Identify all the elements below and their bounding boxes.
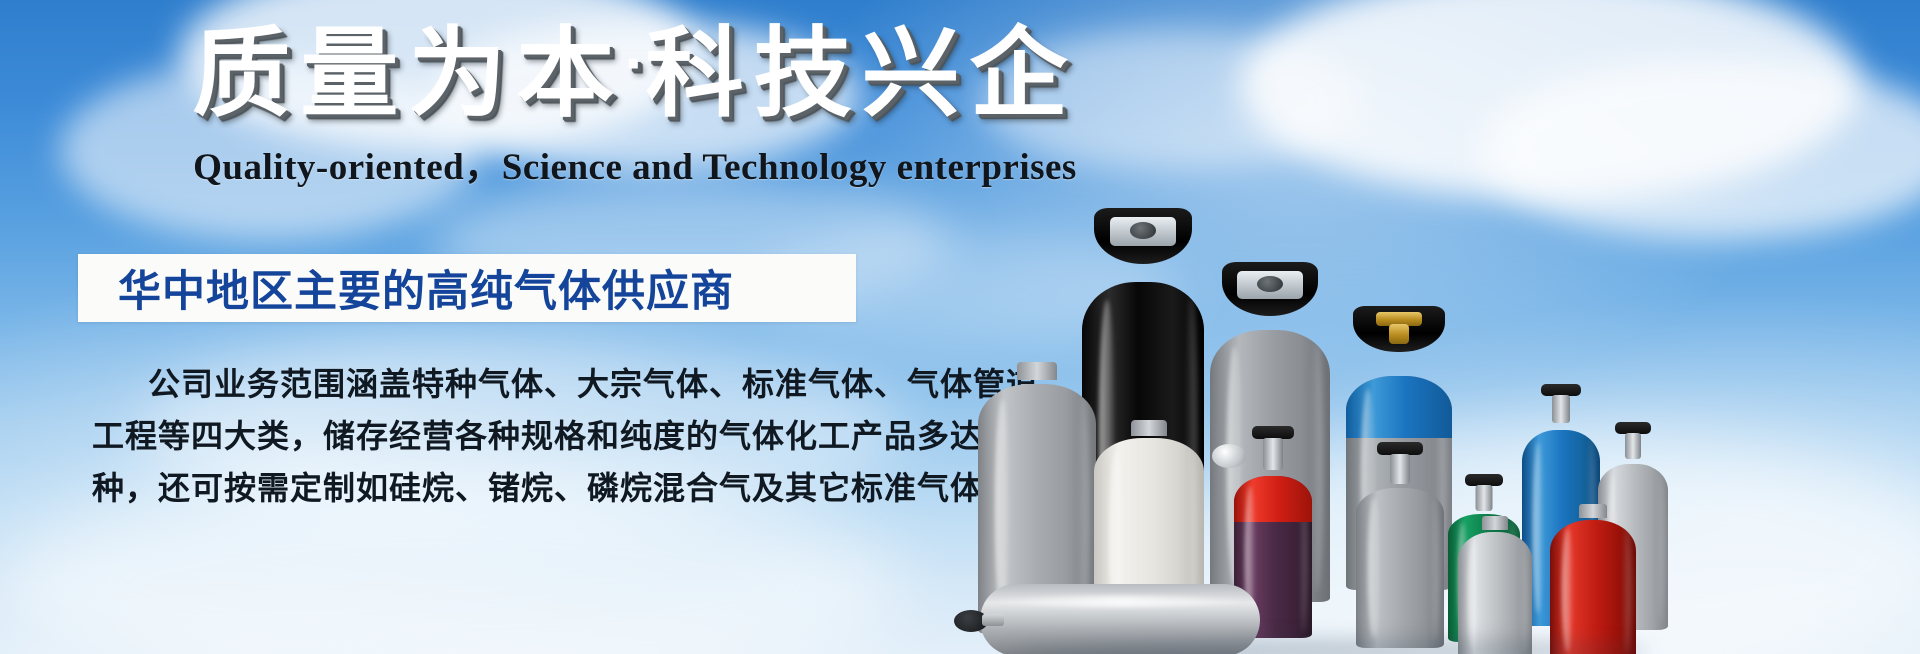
gas-cylinders-photo <box>1150 150 1920 654</box>
promo-banner: 质量为本·科技兴企 Quality-oriented，Science and T… <box>0 0 1920 654</box>
valve-stem <box>1625 433 1641 459</box>
cylinder-neck <box>1482 516 1508 530</box>
brass-valve-stem <box>1389 324 1409 344</box>
cylinder-body <box>1458 532 1532 654</box>
valve-stem <box>1390 454 1410 484</box>
valve-stem <box>1476 485 1493 511</box>
cylinder-cap-guard <box>1094 208 1192 264</box>
cylinder-neck <box>1579 504 1607 518</box>
valve-stem <box>982 614 1004 626</box>
cylinder-shoulder-band <box>1346 376 1452 438</box>
cylinder-neck <box>1017 362 1057 380</box>
paragraph-line-2: 工程等四大类，储存经营各种规格和纯度的气体化工产品多达上百 <box>92 410 892 462</box>
cylinder-grey-valve <box>1356 462 1444 648</box>
slogan-text: 华中地区主要的高纯气体供应商 <box>78 257 734 319</box>
cylinder-neck <box>1131 420 1167 436</box>
paragraph-line-1: 公司业务范围涵盖特种气体、大宗气体、标准气体、气体管道 <box>92 358 892 410</box>
cylinder-body <box>1550 520 1636 654</box>
banner-subtitle: Quality-oriented，Science and Technology … <box>0 136 1270 190</box>
pressure-gauge-icon <box>1212 444 1246 468</box>
cylinder-shoulder-band <box>1234 476 1312 522</box>
banner-paragraph: 公司业务范围涵盖特种气体、大宗气体、标准气体、气体管道 工程等四大类，储存经营各… <box>92 358 892 514</box>
cylinder-cap-guard <box>1222 262 1318 316</box>
slogan-box: 华中地区主要的高纯气体供应商 <box>78 254 856 322</box>
paragraph-line-3: 种，还可按需定制如硅烷、锗烷、磷烷混合气及其它标准气体。 <box>92 462 892 514</box>
headline-part-two: 科技兴企 <box>646 18 1078 128</box>
cylinder-cap-guard <box>1353 306 1445 352</box>
headline-part-one: 质量为本 <box>192 18 624 128</box>
banner-headline: 质量为本·科技兴企 <box>0 22 1270 126</box>
cylinder-red-front <box>1550 514 1636 654</box>
cylinder-body <box>1356 488 1444 648</box>
valve-stem <box>1552 395 1570 423</box>
headline-separator-dot: · <box>624 27 645 99</box>
valve-stem <box>1263 438 1283 470</box>
cylinder-aluminium-front <box>1458 526 1532 654</box>
